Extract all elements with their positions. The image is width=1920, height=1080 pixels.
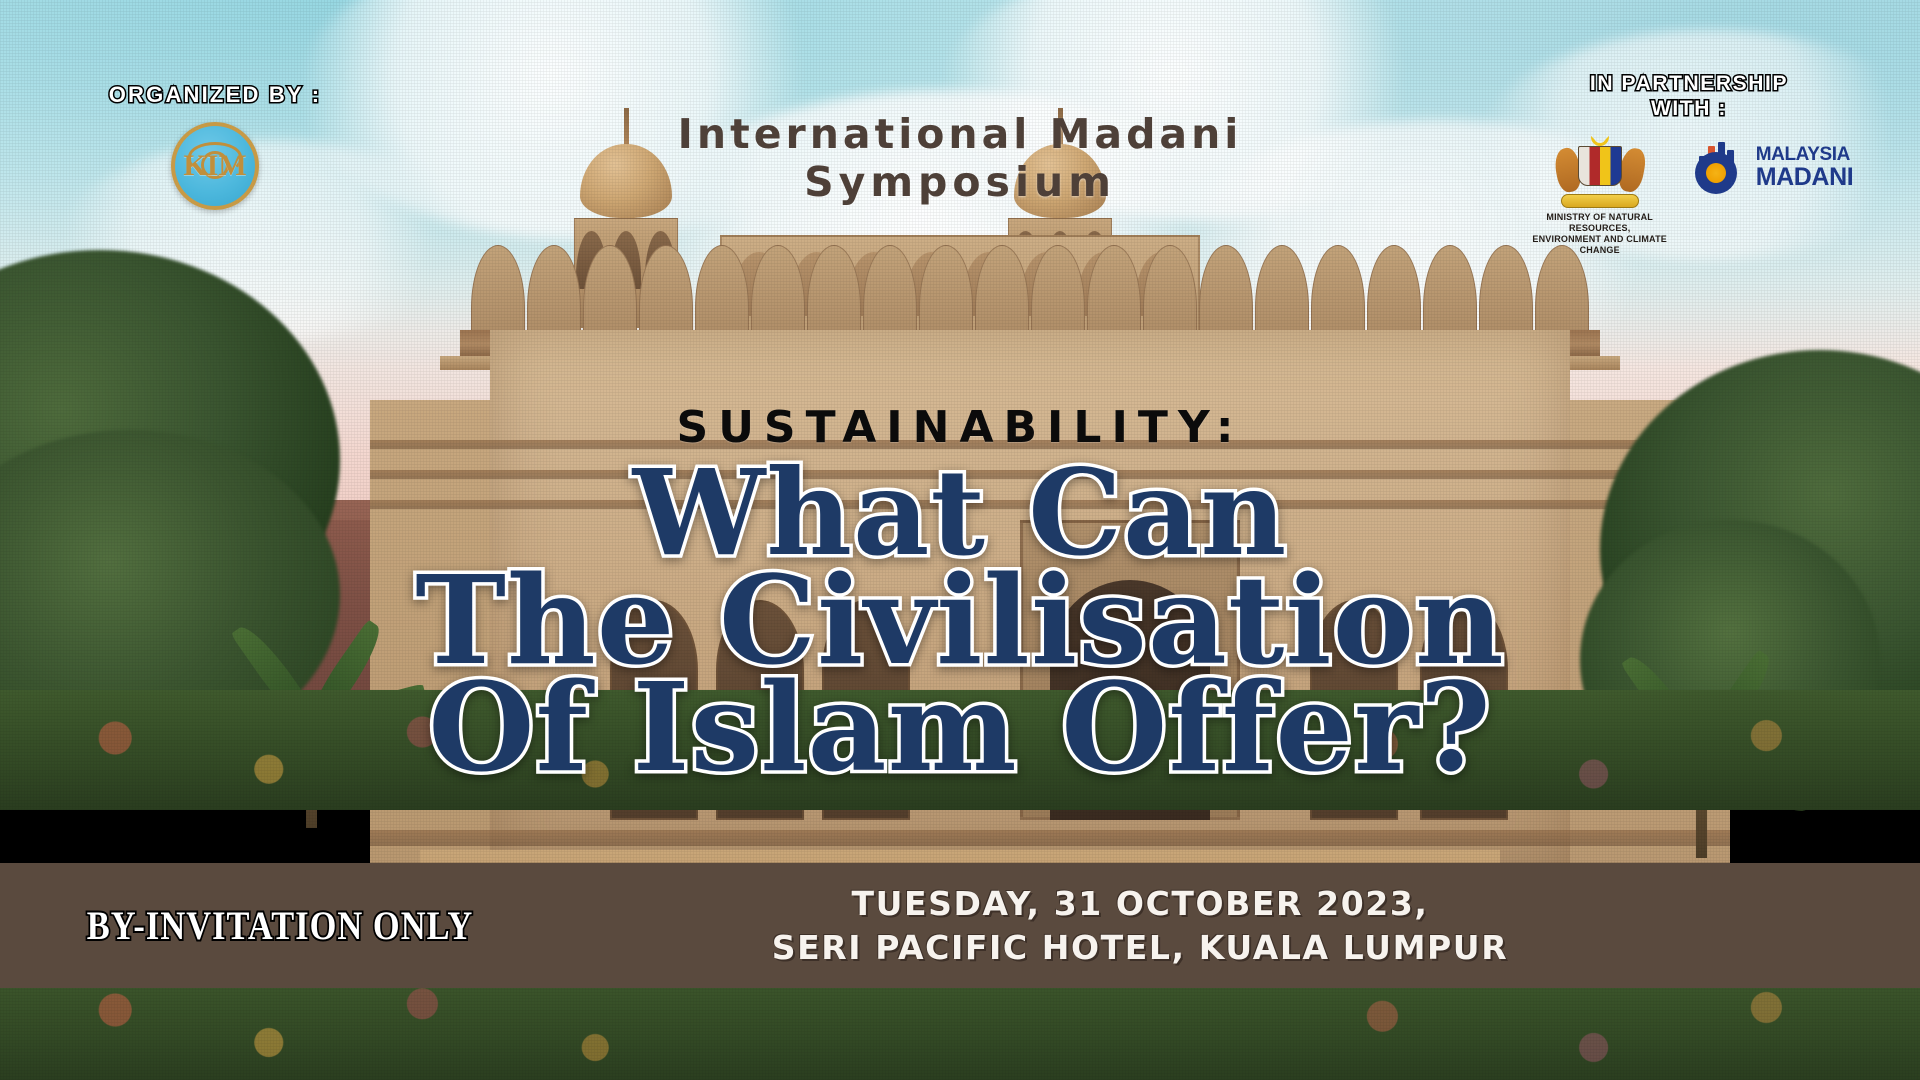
logo-initials: KIM (175, 126, 255, 206)
invitation-notice: BY-INVITATION ONLY (39, 902, 521, 949)
event-datetime-venue: TUESDAY, 31 OCTOBER 2023, SERI PACIFIC H… (560, 882, 1920, 969)
partnership-label-line1: IN PARTNERSHIP (1590, 72, 1788, 95)
symposium-title-line1: International Madani (678, 110, 1243, 158)
upper-arcade (470, 245, 1590, 335)
ikim-logo: KIM (171, 122, 259, 210)
madani-wordmark: MALAYSIA MADANI (1756, 146, 1854, 188)
partner-logo-row: MINISTRY OF NATURAL RESOURCES, ENVIRONME… (1514, 136, 1864, 257)
partnership-label: IN PARTNERSHIP WITH : (1514, 72, 1864, 122)
malaysia-madani-logo: MALAYSIA MADANI (1693, 142, 1854, 194)
organizer-block: ORGANIZED BY : KIM (70, 82, 360, 210)
event-poster: ORGANIZED BY : KIM International Madani … (0, 0, 1920, 1080)
shield-icon (1578, 146, 1622, 186)
madani-word-malaysia: MALAYSIA (1756, 146, 1854, 164)
headline-line3: Of Islam Offer? (210, 668, 1710, 788)
motto-ribbon (1561, 194, 1639, 208)
ministry-name: MINISTRY OF NATURAL RESOURCES, ENVIRONME… (1525, 212, 1675, 257)
event-date: TUESDAY, 31 OCTOBER 2023, (560, 882, 1720, 926)
madani-word-madani: MADANI (1756, 165, 1854, 189)
poster-headline: What Can The Civilisation Of Islam Offer… (210, 455, 1710, 788)
crescent-icon (1591, 136, 1609, 146)
event-venue: SERI PACIFIC HOTEL, KUALA LUMPUR (560, 926, 1720, 970)
ministry-name-line2: ENVIRONMENT AND CLIMATE CHANGE (1532, 234, 1667, 255)
madani-skyline-icon (1693, 142, 1749, 194)
symposium-title: International Madani Symposium (550, 110, 1370, 207)
organized-by-label: ORGANIZED BY : (70, 82, 360, 108)
symposium-title-line2: Symposium (550, 158, 1370, 206)
event-details-banner: BY-INVITATION ONLY TUESDAY, 31 OCTOBER 2… (0, 863, 1920, 988)
palace-plinth (370, 830, 1730, 846)
ministry-logo: MINISTRY OF NATURAL RESOURCES, ENVIRONME… (1525, 136, 1675, 257)
crescent-sun-icon (1695, 152, 1737, 194)
ministry-name-line1: MINISTRY OF NATURAL RESOURCES, (1546, 212, 1653, 233)
partnership-label-line2: WITH : (1651, 97, 1727, 120)
partnership-block: IN PARTNERSHIP WITH : MINISTRY OF NATURA… (1514, 72, 1864, 257)
malaysia-coat-of-arms-icon (1552, 136, 1648, 208)
